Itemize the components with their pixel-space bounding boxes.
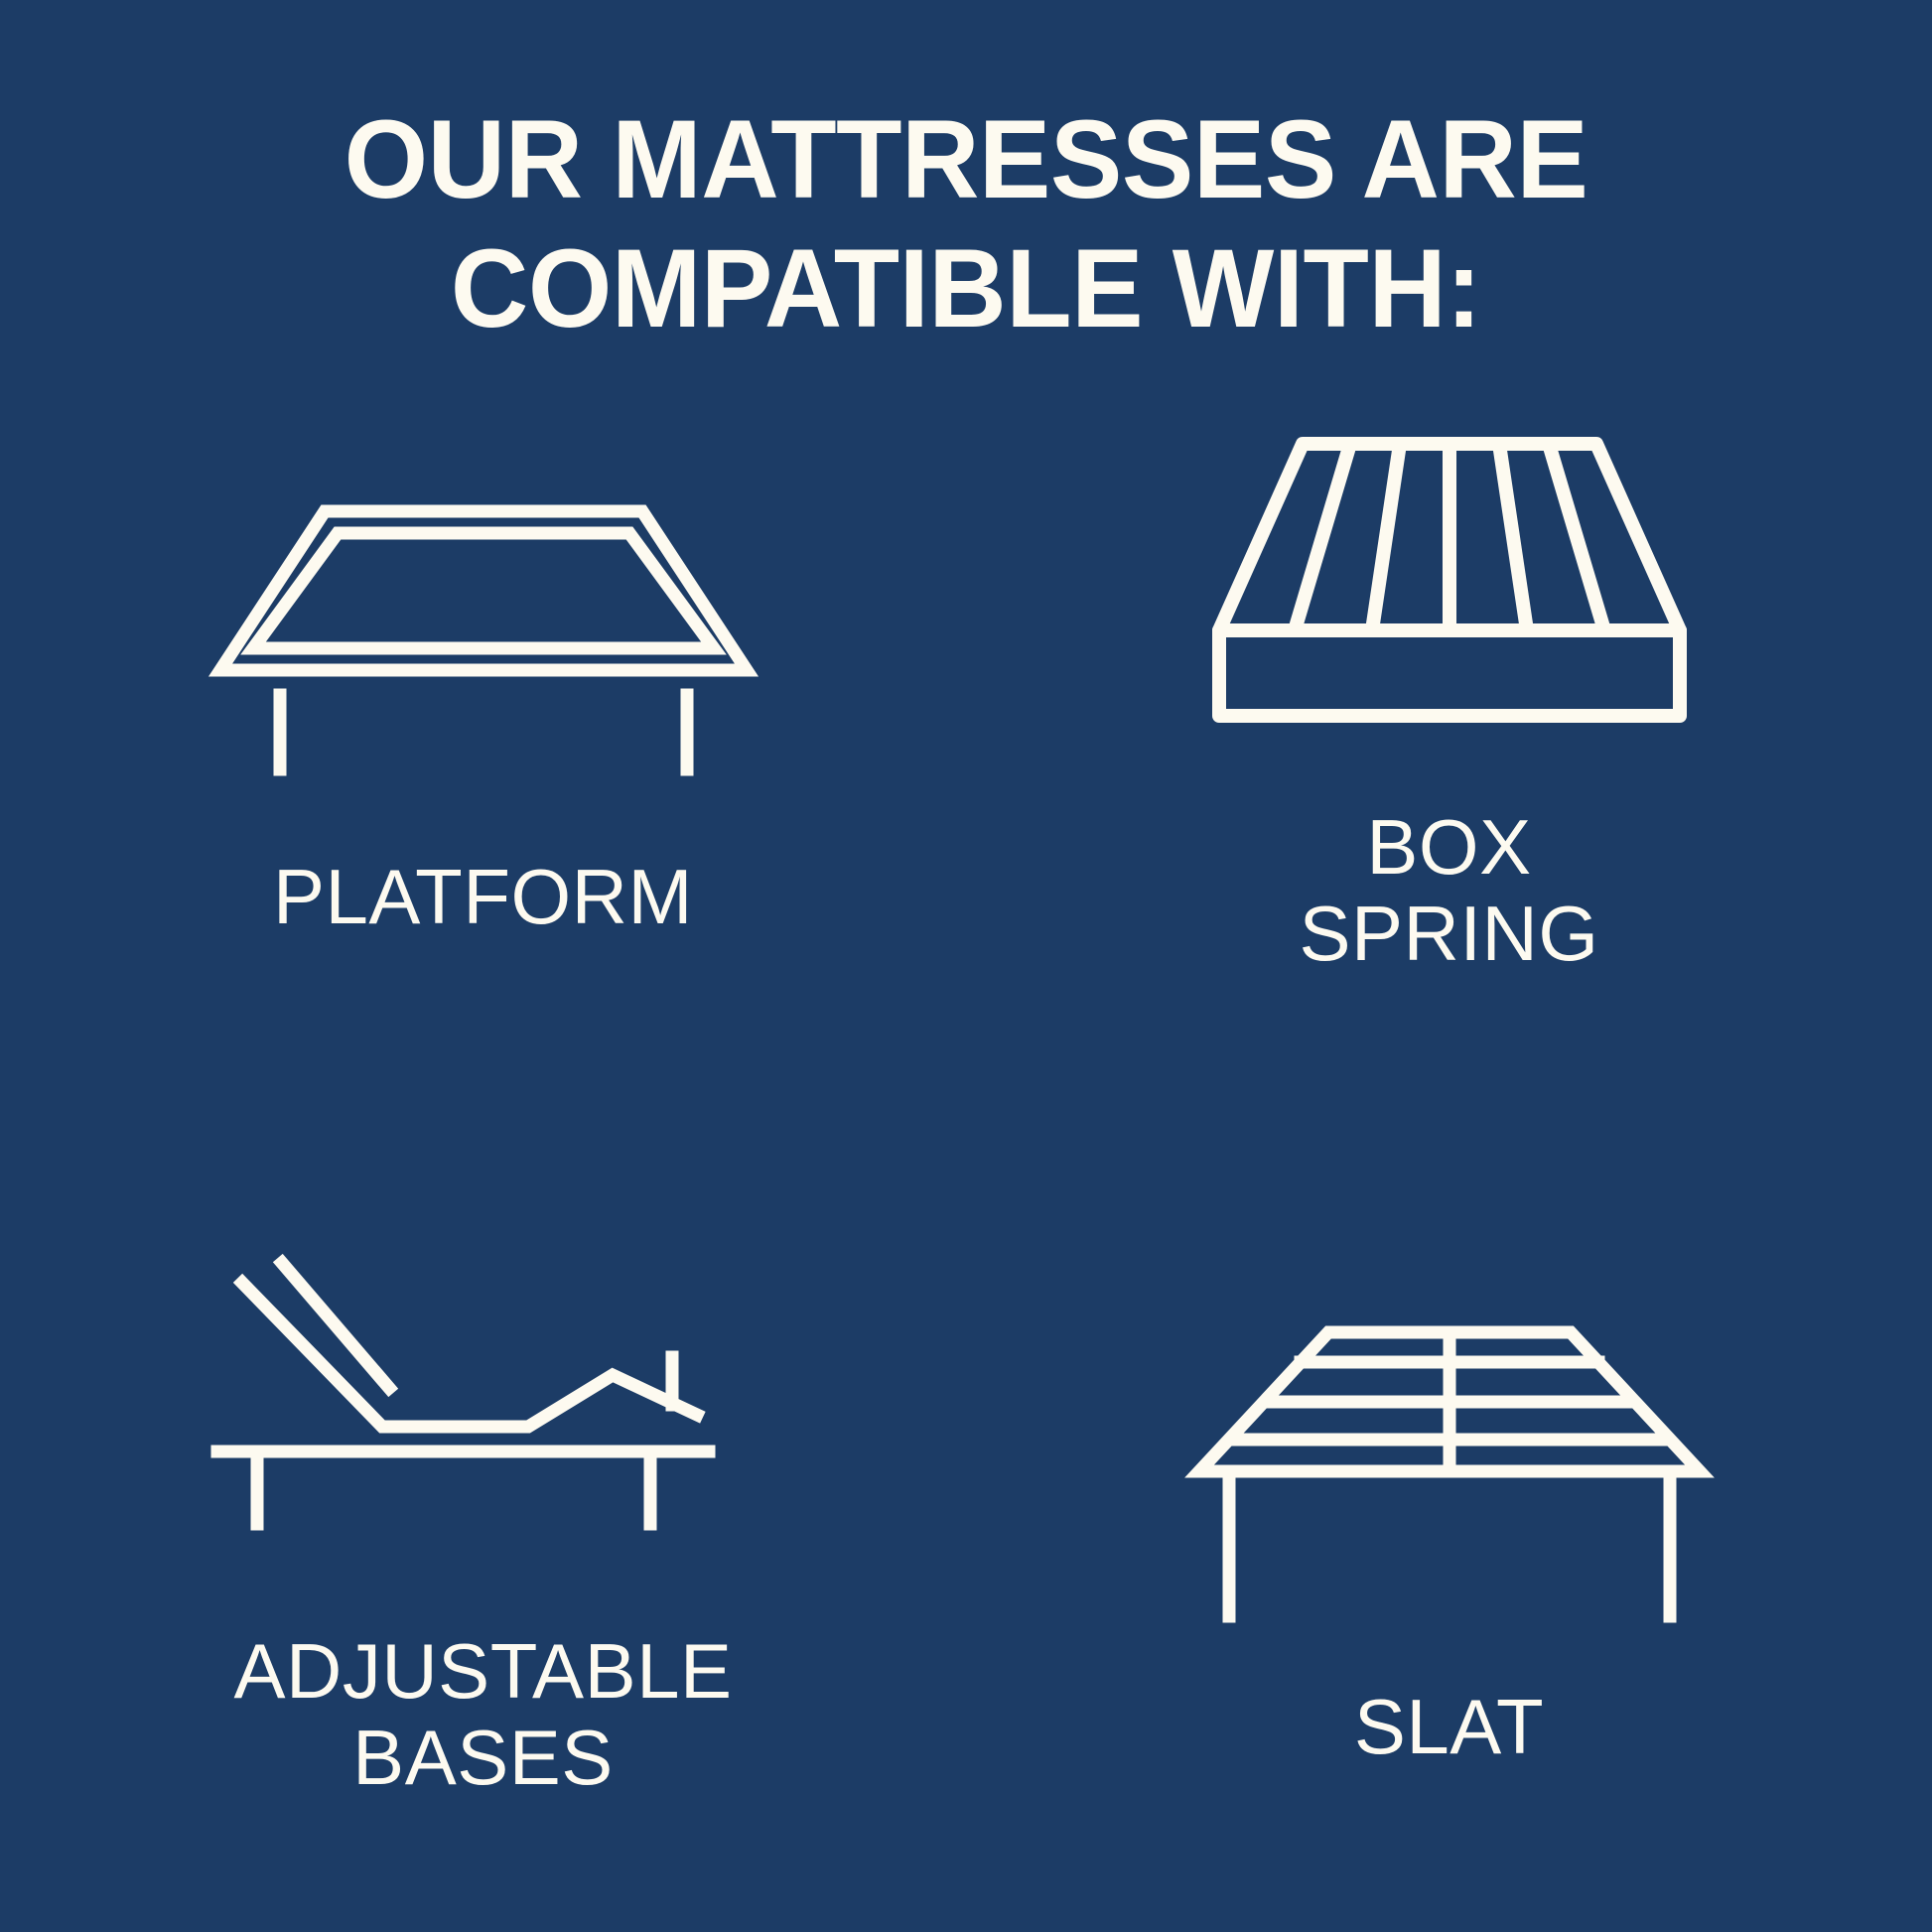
compatibility-item-label: ADJUSTABLE BASES xyxy=(233,1628,732,1802)
compatibility-item-slat: SLAT xyxy=(966,1162,1932,1906)
box-spring-icon xyxy=(966,417,1932,745)
compatibility-poster: OUR MATTRESSES ARE COMPATIBLE WITH: PLAT… xyxy=(0,0,1932,1932)
platform-bed-icon xyxy=(0,467,966,794)
compatibility-item-adjustable-bases: ADJUSTABLE BASES xyxy=(0,1162,966,1906)
compatibility-item-label: SLAT xyxy=(1354,1684,1544,1770)
slat-frame-icon xyxy=(966,1311,1932,1638)
page-title-line-2: COMPATIBLE WITH: xyxy=(145,224,1788,353)
compatibility-item-box-spring: BOX SPRING xyxy=(966,417,1932,1162)
page-title-line-1: OUR MATTRESSES ARE xyxy=(145,95,1788,224)
compatibility-item-label: PLATFORM xyxy=(273,854,693,940)
compatibility-item-platform: PLATFORM xyxy=(0,417,966,1162)
adjustable-base-icon xyxy=(0,1231,966,1559)
compatibility-grid: PLATFORM BOX SPRING xyxy=(0,417,1932,1906)
compatibility-item-label: BOX SPRING xyxy=(1299,804,1598,978)
page-title: OUR MATTRESSES ARE COMPATIBLE WITH: xyxy=(29,95,1903,353)
